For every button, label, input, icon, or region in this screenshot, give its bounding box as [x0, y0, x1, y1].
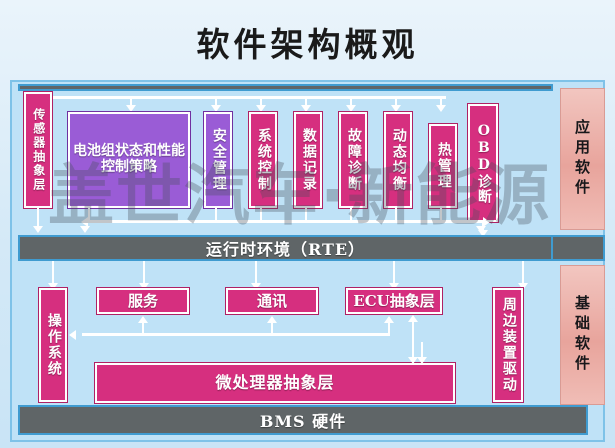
sensor-to-rte-arrow	[33, 226, 43, 233]
ecu-to-mcal-arrow-up	[408, 315, 418, 322]
app-to-rte-arrow-left	[80, 226, 90, 233]
app-return-stem-3	[260, 208, 262, 221]
app-to-rte-arrow-right	[476, 226, 486, 233]
ecu-to-mcal-stem	[412, 320, 414, 362]
rte-bar[interactable]: 运行时环境（RTE）	[18, 235, 553, 261]
band-application-software-label: 应用软件	[572, 119, 593, 199]
peripheral-down-arrow	[417, 357, 427, 364]
bms-hardware-bar[interactable]: BMS 硬件	[18, 405, 588, 435]
app-bus-arrow-4	[256, 105, 266, 112]
app-bus-stem-5	[305, 96, 307, 106]
band-basic-software-label: 基础软件	[572, 295, 593, 375]
basic-bus-horizontal	[82, 333, 390, 336]
component-dynamic-balancing[interactable]: 动态均衡	[384, 112, 412, 208]
component-data-logging[interactable]: 数据记录	[294, 112, 322, 208]
app-return-bus	[88, 220, 483, 223]
component-operating-system[interactable]: 操作系统	[39, 288, 67, 402]
app-bus-arrow-8	[436, 105, 446, 112]
component-communication[interactable]: 通讯	[226, 288, 318, 314]
band-basic-software: 基础软件	[560, 265, 605, 405]
app-bus-stem-7	[395, 96, 397, 106]
communication-up-arrow	[267, 316, 277, 323]
component-peripheral-device-driver[interactable]: 周边装置驱动	[493, 288, 523, 402]
app-bus-arrow-7	[391, 105, 401, 112]
application-layer-top-strip	[18, 84, 553, 91]
app-return-stem-5	[350, 208, 352, 221]
diagram-canvas: 软件架构概观 传感器抽象层 电池组状态和性能控制策略 安全管理 系统控制 数据记…	[0, 0, 615, 448]
component-system-control[interactable]: 系统控制	[249, 112, 277, 208]
component-fault-diagnosis[interactable]: 故障诊断	[339, 112, 367, 208]
app-bus-stem-6	[350, 96, 352, 106]
app-return-stem-1	[88, 208, 90, 221]
band-divider-strip	[553, 235, 605, 261]
app-bus-stem-8	[440, 96, 442, 106]
component-safety-management[interactable]: 安全管理	[204, 112, 232, 208]
app-bus-arrow-6	[346, 105, 356, 112]
page-title: 软件架构概观	[0, 18, 615, 66]
app-return-stem-2	[215, 208, 217, 221]
sensor-to-rte-stem	[37, 208, 39, 228]
app-return-stem-7	[440, 208, 442, 221]
component-thermal-management[interactable]: 热管理	[429, 124, 457, 208]
app-bus-horizontal	[46, 96, 446, 99]
app-bus-stem-3	[215, 96, 217, 106]
component-microprocessor-abstraction-layer[interactable]: 微处理器抽象层	[95, 363, 455, 403]
app-bus-arrow-2	[126, 105, 136, 112]
component-battery-state-performance-strategy[interactable]: 电池组状态和性能控制策略	[68, 112, 190, 208]
basic-bus-arrow-left	[69, 330, 76, 340]
component-services[interactable]: 服务	[97, 288, 189, 314]
component-obd-diagnosis[interactable]: OBD诊断	[468, 104, 498, 222]
app-return-stem-4	[305, 208, 307, 221]
app-bus-stem-4	[260, 96, 262, 106]
component-sensor-abstraction-layer[interactable]: 传感器抽象层	[24, 92, 52, 208]
services-up-arrow	[138, 316, 148, 323]
band-application-software: 应用软件	[560, 88, 605, 230]
app-bus-arrow-5	[301, 105, 311, 112]
app-bus-arrow-3	[211, 105, 221, 112]
component-ecu-abstraction-layer[interactable]: ECU抽象层	[346, 288, 442, 314]
app-bus-stem-2	[130, 96, 132, 106]
app-return-stem-6	[395, 208, 397, 221]
ecu-left-arrow	[384, 316, 394, 323]
